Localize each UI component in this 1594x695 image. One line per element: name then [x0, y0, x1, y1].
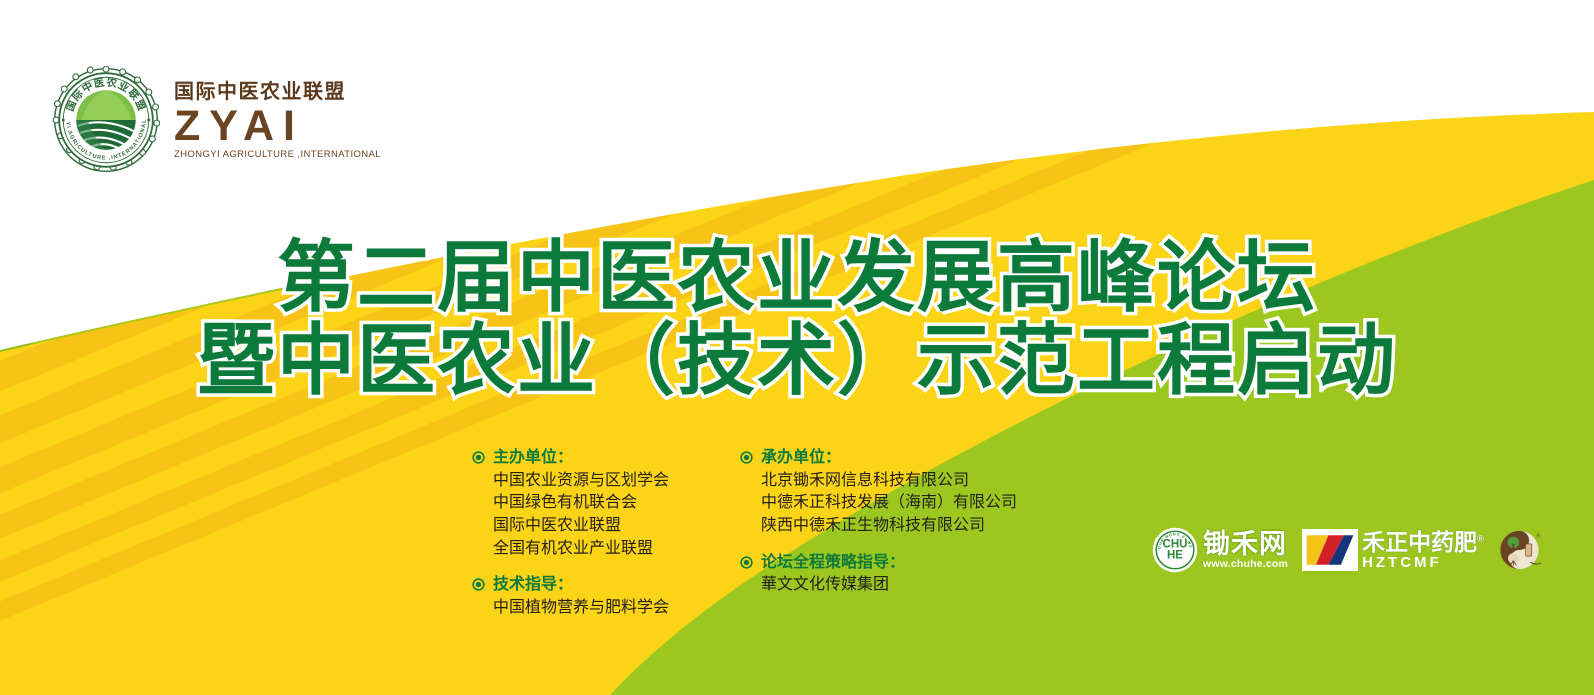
- info-group-co-organizers: 承办单位： 北京锄禾网信息科技有限公司 中德禾正科技发展（海南）有限公司 陕西中…: [740, 447, 1040, 538]
- bullet-icon: [472, 451, 485, 464]
- sponsor-url: www.chuhe.com: [1203, 559, 1288, 570]
- info-group-strategic-guidance: 论坛全程策略指导： 華文文化传媒集团: [740, 552, 1040, 597]
- chuhe-circle-logo: CHU HE CHUHE NONG ZI WANG: [1152, 527, 1198, 573]
- list-item: 全国有机农业产业联盟: [493, 538, 740, 561]
- hezheng-angular-logo: [1302, 529, 1358, 571]
- list-item: 北京锄禾网信息科技有限公司: [761, 470, 1040, 493]
- organizer-info: 主办单位： 中国农业资源与区划学会 中国绿色有机联合会 国际中医农业联盟 全国有…: [472, 447, 1040, 620]
- group-title: 主办单位：: [493, 447, 573, 469]
- bullet-icon: [472, 578, 485, 591]
- sponsor-tree-root[interactable]: ®: [1498, 527, 1544, 573]
- group-head: 论坛全程策略指导：: [740, 552, 1040, 574]
- svg-text:HE: HE: [1167, 549, 1183, 561]
- sponsor-name-cn: 锄禾网: [1203, 531, 1288, 558]
- group-items: 中国植物营养与肥料学会: [493, 597, 740, 620]
- zyai-circular-emblem: 国际中医农业联盟 ZHONGYI AGRICULTURE ,INTERNATIO…: [52, 66, 160, 174]
- org-abbreviation: ZYAI: [174, 105, 304, 148]
- bullet-icon: [740, 556, 753, 569]
- group-title: 论坛全程策略指导：: [761, 552, 905, 574]
- sponsor-hztcmf[interactable]: 禾正中药肥® HZTCMF: [1302, 529, 1484, 571]
- list-item: 中德禾正科技发展（海南）有限公司: [761, 492, 1040, 515]
- list-item: 中国农业资源与区划学会: [493, 470, 740, 493]
- group-items: 華文文化传媒集团: [761, 574, 1040, 597]
- org-name-en: ZHONGYI AGRICULTURE ,INTERNATIONAL: [174, 150, 381, 160]
- sponsor-chuhe[interactable]: CHU HE CHUHE NONG ZI WANG 锄禾网 www.chuhe.…: [1152, 527, 1288, 573]
- list-item: 華文文化传媒集团: [761, 574, 1040, 597]
- group-items: 中国农业资源与区划学会 中国绿色有机联合会 国际中医农业联盟 全国有机农业产业联…: [493, 470, 740, 561]
- group-head: 技术指导：: [472, 574, 740, 596]
- sponsor-name-en: HZTCMF: [1362, 555, 1484, 570]
- group-items: 北京锄禾网信息科技有限公司 中德禾正科技发展（海南）有限公司 陕西中德禾正生物科…: [761, 470, 1040, 538]
- group-title: 承办单位：: [761, 447, 841, 469]
- bullet-icon: [740, 451, 753, 464]
- conference-banner: 国际中医农业联盟 ZHONGYI AGRICULTURE ,INTERNATIO…: [0, 0, 1594, 695]
- list-item: 陕西中德禾正生物科技有限公司: [761, 515, 1040, 538]
- sponsor-logos: CHU HE CHUHE NONG ZI WANG 锄禾网 www.chuhe.…: [1152, 527, 1544, 573]
- list-item: 中国植物营养与肥料学会: [493, 597, 740, 620]
- group-head: 承办单位：: [740, 447, 1040, 469]
- info-group-technical-guidance: 技术指导： 中国植物营养与肥料学会: [472, 574, 740, 619]
- zyai-logo-lockup: 国际中医农业联盟 ZHONGYI AGRICULTURE ,INTERNATIO…: [52, 66, 381, 174]
- zyai-wordmark: 国际中医农业联盟 ZYAI ZHONGYI AGRICULTURE ,INTER…: [174, 80, 381, 160]
- info-group-organizers: 主办单位： 中国农业资源与区划学会 中国绿色有机联合会 国际中医农业联盟 全国有…: [472, 447, 740, 560]
- sponsor-name-cn: 禾正中药肥®: [1362, 531, 1484, 554]
- list-item: 中国绿色有机联合会: [493, 492, 740, 515]
- org-name-cn: 国际中医农业联盟: [174, 82, 346, 102]
- info-column-right: 承办单位： 北京锄禾网信息科技有限公司 中德禾正科技发展（海南）有限公司 陕西中…: [740, 447, 1040, 620]
- tree-root-circle-logo: ®: [1498, 527, 1544, 573]
- info-column-left: 主办单位： 中国农业资源与区划学会 中国绿色有机联合会 国际中医农业联盟 全国有…: [472, 447, 740, 620]
- registered-mark: ®: [1536, 533, 1540, 540]
- group-title: 技术指导：: [493, 574, 573, 596]
- group-head: 主办单位：: [472, 447, 740, 469]
- list-item: 国际中医农业联盟: [493, 515, 740, 538]
